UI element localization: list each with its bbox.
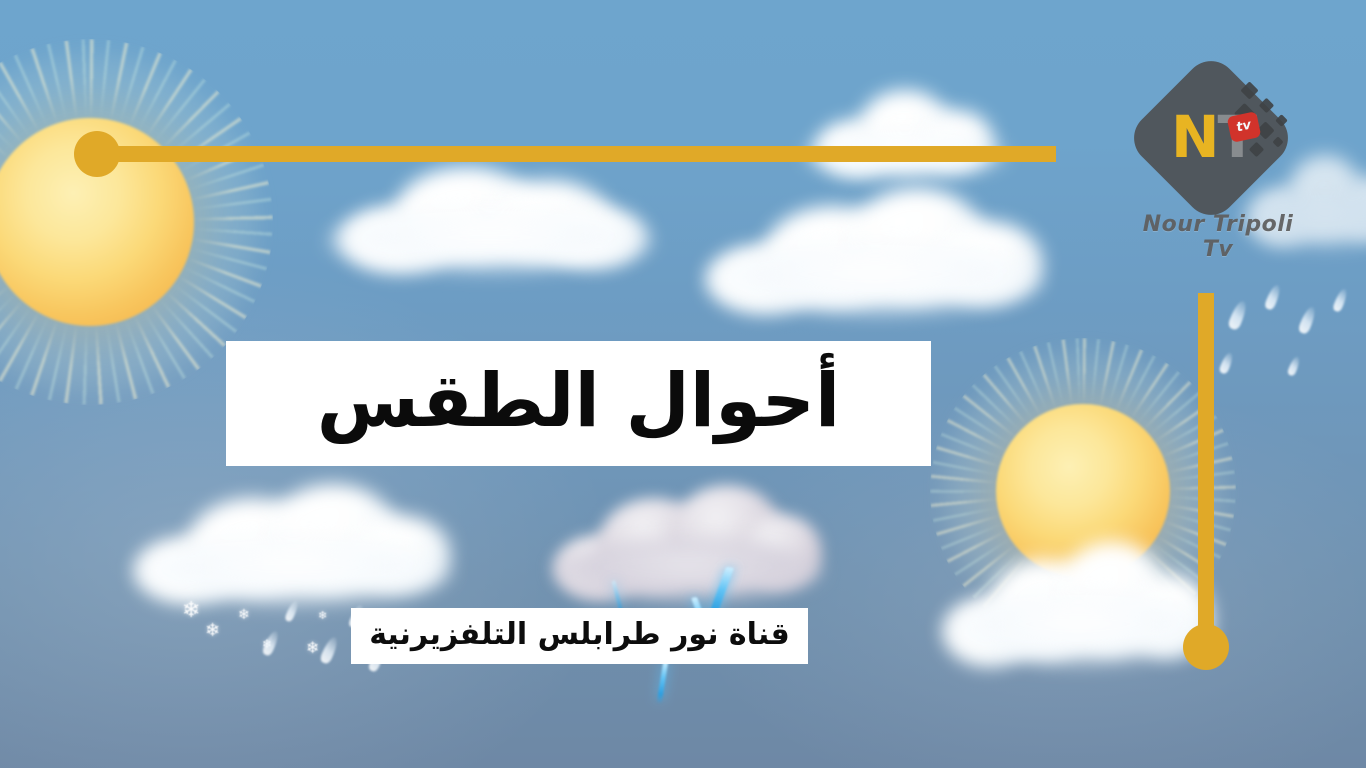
title-plate: أحوال الطقس xyxy=(226,341,931,466)
logo-wordmark: Nour Tripoli Tv xyxy=(1133,212,1303,262)
vertical-accent-line xyxy=(1198,293,1214,635)
page-title: أحوال الطقس xyxy=(317,364,841,444)
snowflake-icon: ❄ xyxy=(238,608,250,622)
cloud-snow-left-icon xyxy=(128,470,458,610)
snowflake-icon: ❄ xyxy=(205,622,220,640)
cloud-upper-right-top-icon xyxy=(800,82,1010,182)
cloud-front-right xyxy=(938,520,1218,670)
weather-graphic-canvas: ❄ ❄ ❄ ❄ ❄ ❄ xyxy=(0,0,1366,768)
subtitle-plate: قناة نور طرابلس التلفزيرنية xyxy=(351,608,808,664)
snowflake-icon: ❄ xyxy=(306,640,319,656)
channel-logo: NT tv Nour Tripoli Tv xyxy=(1133,70,1303,255)
horizontal-accent-line xyxy=(96,146,1056,162)
cloud-upper-right-main-icon xyxy=(700,170,1050,320)
channel-name: قناة نور طرابلس التلفزيرنية xyxy=(369,620,790,653)
snowflake-icon: ❄ xyxy=(318,610,327,621)
horizontal-accent-dot xyxy=(74,131,120,177)
vertical-accent-dot xyxy=(1183,624,1229,670)
snowflake-icon: ❄ xyxy=(182,600,200,622)
cloud-top-center-icon xyxy=(320,146,660,276)
logo-monogram-n: N xyxy=(1171,103,1218,171)
